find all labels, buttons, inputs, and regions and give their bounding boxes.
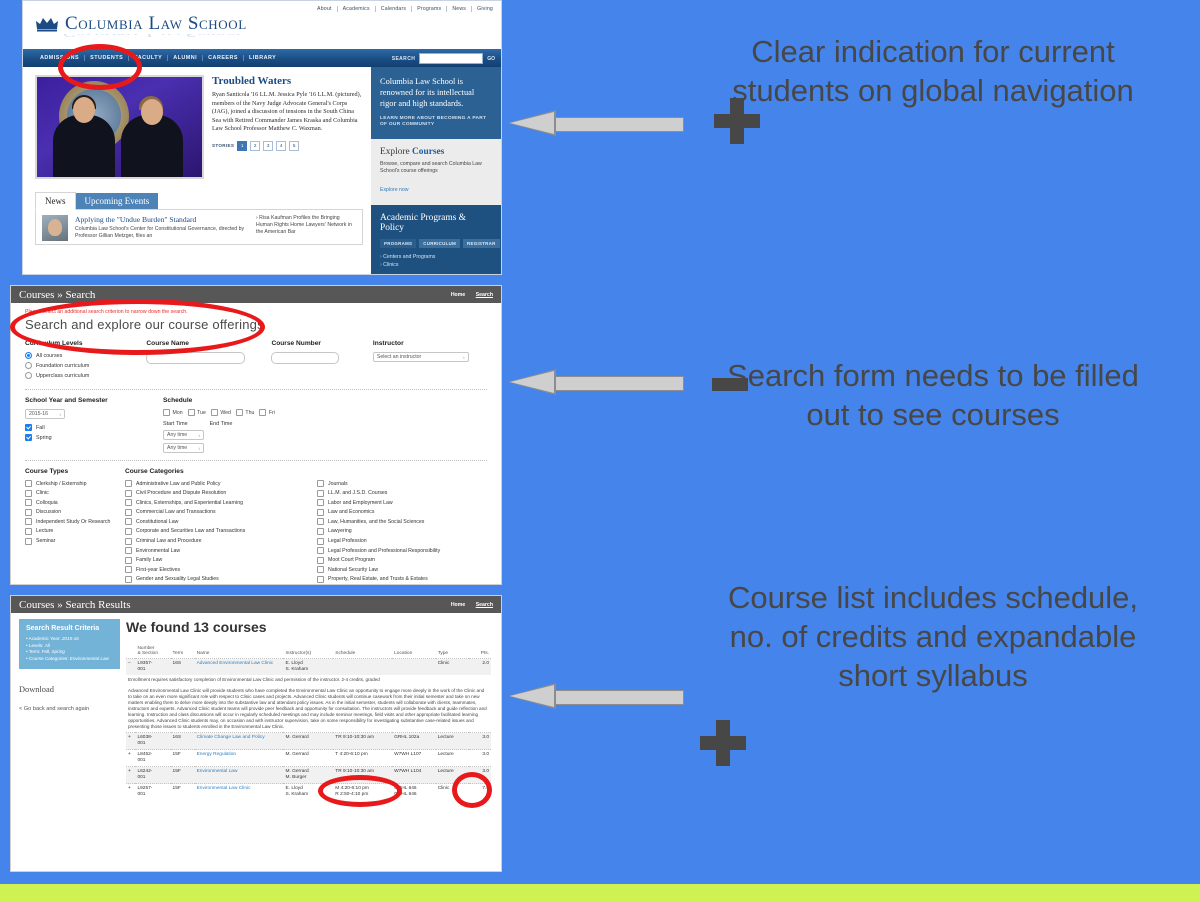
course-categories-columns: Administrative Law and Public Policy Civ… — [125, 480, 487, 585]
criteria-item: Term: Fall, Spring — [26, 649, 113, 656]
course-types-group: Course Types Clerkship / Externship Clin… — [25, 468, 125, 585]
option-label: Legal Profession and Professional Respon… — [328, 548, 440, 554]
option-label: Labor and Employment Law — [328, 500, 393, 506]
cell-number: L9257-001 — [135, 784, 170, 801]
header-links[interactable]: Home Search — [442, 602, 493, 608]
checkbox-course-category[interactable]: Environmental Law — [125, 547, 303, 554]
cell-name[interactable]: Environmental Law Clinic — [195, 784, 284, 801]
cell-points: 3.0 — [469, 733, 491, 750]
option-label: Civil Procedure and Dispute Resolution — [136, 490, 226, 496]
cell-location: W7WH L104 — [392, 767, 436, 784]
option-label: Corporate and Securities Law and Transac… — [136, 528, 245, 534]
cell-type: Lecture — [436, 733, 469, 750]
checkbox-icon — [125, 490, 132, 497]
checkbox-course-category[interactable]: Journals — [317, 480, 487, 487]
cell-term: 15F — [171, 784, 195, 801]
academic-programs-title: Academic Programs & Policy — [380, 213, 492, 233]
checkbox-fri[interactable]: Fri — [259, 409, 275, 416]
school-year-label: School Year and Semester — [25, 397, 149, 404]
checkbox-course-category[interactable]: Labor and Employment Law — [317, 499, 487, 506]
col-toggle — [126, 646, 135, 659]
highlight-ellipse-points-cell — [452, 772, 492, 808]
link-search[interactable]: Search — [476, 602, 493, 608]
utility-nav-item[interactable]: Academics — [338, 6, 376, 12]
checkbox-icon — [125, 499, 132, 506]
arrow-head — [510, 685, 554, 707]
checkbox-course-category[interactable]: Lawyering — [317, 528, 487, 535]
option-label: Seminar — [36, 538, 55, 544]
academic-programs-tabs[interactable]: PROGRAMS CURRICULUM REGISTRAR — [380, 239, 492, 248]
news-summary: Columbia Law School's Center for Constit… — [75, 226, 249, 240]
instructor-group: Instructor Select an instructor↕ — [373, 340, 487, 382]
go-back-link[interactable]: < Go back and search again — [19, 706, 120, 712]
checkbox-icon — [25, 480, 32, 487]
row-toggle[interactable]: + — [126, 733, 135, 750]
row-toggle[interactable]: – — [126, 659, 135, 676]
checkbox-course-category[interactable]: Civil Procedure and Dispute Resolution — [125, 490, 303, 497]
radio-foundation-curriculum[interactable]: Foundation curriculum — [25, 362, 132, 369]
tab-news[interactable]: News — [35, 192, 76, 210]
explore-courses-panel: Explore Courses Browse, compare and sear… — [371, 139, 501, 205]
cell-location: GRHL 102a — [392, 733, 436, 750]
search-input[interactable] — [419, 53, 483, 64]
checkbox-course-category[interactable]: Moot Court Program — [317, 557, 487, 564]
syllabus-note: Enrollment requires satisfactory complet… — [128, 677, 489, 683]
option-label: Clinic — [36, 490, 49, 496]
academic-programs-panel: Academic Programs & Policy PROGRAMS CURR… — [371, 205, 501, 275]
instructor-label: Instructor — [373, 340, 473, 347]
start-time-label: Start Time — [163, 421, 188, 427]
checkbox-course-category[interactable]: Corporate and Securities Law and Transac… — [125, 528, 303, 535]
cell-schedule: TR 9:10-10:30 am — [333, 733, 392, 750]
cell-instructors: E. LloydS. Kraham — [283, 659, 333, 676]
hero-feature: Troubled Waters Ryan Santicola '16 LL.M.… — [35, 75, 363, 179]
news-thumbnail — [42, 215, 68, 241]
option-label: Lecture — [36, 528, 53, 534]
results-main: We found 13 courses Number& Section Term… — [126, 613, 501, 800]
start-time-value: Any time — [167, 432, 187, 438]
course-number-input[interactable] — [271, 352, 339, 364]
promo-panel: Columbia Law School is renowned for its … — [371, 67, 501, 139]
checkbox-course-type[interactable]: Discussion — [25, 509, 111, 516]
option-label: Clerkship / Externship — [36, 481, 86, 487]
cell-points: 2.0 — [469, 659, 491, 676]
cell-points: 3.0 — [469, 750, 491, 767]
header-links[interactable]: Home Search — [442, 292, 493, 298]
checkbox-icon — [317, 490, 324, 497]
end-time-label: End Time — [210, 421, 233, 427]
crown-icon — [35, 16, 59, 32]
promo-statement: Columbia Law School is renowned for its … — [380, 76, 492, 109]
checkbox-icon — [317, 518, 324, 525]
checkbox-fall[interactable]: Fall — [25, 424, 149, 431]
table-header-row: Number& Section Term Name Instructor(s) … — [126, 646, 491, 659]
annotation-text-search: Search form needs to be filled out to se… — [718, 356, 1148, 434]
checkbox-course-category[interactable]: Clinics, Externships, and Experiential L… — [125, 499, 303, 506]
end-time-select[interactable]: Any time↕ — [163, 443, 204, 453]
nav-item-alumni[interactable]: ALUMNI — [168, 55, 203, 61]
option-label: All courses — [36, 353, 62, 359]
criteria-title: Search Result Criteria — [26, 625, 113, 632]
day-label: Tue — [197, 410, 206, 416]
hero-summary: Ryan Santicola '16 LL.M. Jessica Pyle '1… — [212, 91, 363, 134]
chevron-updown-icon: ↕ — [198, 446, 200, 451]
explore-courses-title: Explore Courses — [380, 147, 492, 157]
checkbox-course-category[interactable]: Law, Humanities, and the Social Sciences — [317, 518, 487, 525]
site-header: AboutAcademicsCalendarsProgramsNewsGivin… — [23, 1, 501, 49]
checkbox-course-category[interactable]: Constitutional Law — [125, 518, 303, 525]
page-title: Courses » Search Results — [19, 599, 131, 611]
instructor-select-value: Select an instructor — [377, 354, 421, 360]
cell-term: 16S — [171, 659, 195, 676]
checkbox-course-category[interactable]: Law and Economics — [317, 509, 487, 516]
arrow-head — [510, 371, 554, 393]
course-categories-group: Course Categories Administrative Law and… — [125, 468, 487, 585]
table-row[interactable]: + L6038-001 16S Climate Change Law and P… — [126, 733, 491, 750]
option-label: Colloquia — [36, 500, 58, 506]
arrow-shaft — [553, 376, 684, 391]
search-result-criteria-panel: Search Result Criteria Academic Year: 20… — [19, 619, 120, 669]
hero-page-1[interactable]: 1 — [237, 141, 247, 151]
results-table: Number& Section Term Name Instructor(s) … — [126, 646, 491, 800]
checkbox-icon — [259, 409, 266, 416]
logo-reflection: Columbia Law School — [63, 34, 245, 39]
checkbox-spring[interactable]: Spring — [25, 434, 149, 441]
day-label: Fri — [269, 410, 275, 416]
cell-term: 15F — [171, 767, 195, 784]
site-search[interactable]: SEARCH GO — [392, 53, 495, 64]
day-label: Mon — [173, 410, 183, 416]
course-number-label: Course Number — [271, 340, 358, 347]
hero-page-3[interactable]: 3 — [263, 141, 273, 151]
row-expanded-syllabus: Enrollment requires satisfactory complet… — [126, 675, 491, 733]
criteria-item: Academic Year: 2015-16 — [26, 636, 113, 643]
checkbox-mon[interactable]: Mon — [163, 409, 183, 416]
news-panel: Applying the "Undue Burden" Standard Col… — [35, 209, 363, 245]
checkbox-course-category[interactable]: Administrative Law and Public Policy — [125, 480, 303, 487]
option-label: Environmental Law — [136, 548, 180, 554]
news-tabs[interactable]: News Upcoming Events — [35, 191, 363, 209]
checkbox-course-category[interactable]: Legal Profession — [317, 538, 487, 545]
screenshot-search-results: Courses » Search Results Home Search Sea… — [10, 595, 502, 872]
checkbox-icon — [125, 576, 132, 583]
option-label: Clinics, Externships, and Experiential L… — [136, 500, 243, 506]
hero-image — [35, 75, 204, 179]
checkbox-icon — [25, 518, 32, 525]
option-label: Journals — [328, 481, 348, 487]
cell-name[interactable]: Climate Change Law and Policy — [195, 733, 284, 750]
checkbox-icon — [188, 409, 195, 416]
callout-arrow-results — [508, 683, 684, 709]
option-label: Property, Real Estate, and Trusts & Esta… — [328, 576, 428, 582]
option-label: LL.M. and J.S.D. Courses — [328, 490, 387, 496]
checkbox-tue[interactable]: Tue — [188, 409, 206, 416]
day-label: Thu — [245, 410, 254, 416]
checkbox-icon — [317, 547, 324, 554]
checkbox-icon — [125, 547, 132, 554]
cell-instructors: M. Gerrard — [283, 733, 333, 750]
radio-icon — [25, 362, 32, 369]
search-go-button[interactable]: GO — [487, 56, 495, 62]
download-heading[interactable]: Download — [19, 685, 120, 694]
promo-cta-link[interactable]: LEARN MORE ABOUT BECOMING A PART OF OUR … — [380, 116, 492, 129]
radio-icon — [25, 352, 32, 359]
checkbox-course-type[interactable]: Seminar — [25, 538, 111, 545]
checkbox-course-category[interactable]: Legal Profession and Professional Respon… — [317, 547, 487, 554]
school-year-group: School Year and Semester 2015-16↕ Fall S… — [25, 397, 163, 453]
link-home[interactable]: Home — [451, 602, 465, 608]
bottom-accent-strip — [0, 884, 1200, 901]
list-item[interactable]: Centers and Programs — [380, 253, 492, 261]
option-label: Upperclass curriculum — [36, 373, 89, 379]
checkbox-icon — [236, 409, 243, 416]
hero-headline[interactable]: Troubled Waters — [212, 75, 363, 87]
callout-arrow-search — [508, 369, 684, 395]
school-year-select[interactable]: 2015-16↕ — [25, 409, 65, 419]
tab-registrar[interactable]: REGISTRAR — [463, 239, 500, 248]
checkbox-course-type[interactable]: Clinic — [25, 490, 111, 497]
search-label: SEARCH — [392, 56, 416, 62]
cell-term: 15F — [171, 750, 195, 767]
course-types-label: Course Types — [25, 468, 111, 475]
nav-item-careers[interactable]: CAREERS — [203, 55, 244, 61]
option-label: Gender and Sexuality Legal Studies — [136, 576, 219, 582]
highlight-ellipse-search-heading — [10, 299, 265, 355]
criteria-item: Course Categories: Environmental Law — [26, 656, 113, 663]
course-number-group: Course Number — [271, 340, 372, 382]
home-body: Troubled Waters Ryan Santicola '16 LL.M.… — [23, 67, 501, 274]
table-row[interactable]: + L6242-001 15F Environmental Law M. Ger… — [126, 767, 491, 784]
instructor-select[interactable]: Select an instructor↕ — [373, 352, 469, 362]
option-label: Independent Study Or Research — [36, 519, 110, 525]
row-year-schedule: School Year and Semester 2015-16↕ Fall S… — [25, 397, 487, 461]
cell-number: L6038-001 — [135, 733, 170, 750]
news-headline[interactable]: Applying the "Undue Burden" Standard — [75, 215, 249, 224]
checkbox-icon — [317, 499, 324, 506]
home-sidebar: Columbia Law School is renowned for its … — [371, 67, 501, 274]
option-label: Family Law — [136, 557, 162, 563]
option-label: Commercial Law and Transactions — [136, 509, 216, 515]
checkbox-thu[interactable]: Thu — [236, 409, 254, 416]
annotation-text-results: Course list includes schedule, no. of cr… — [718, 578, 1148, 695]
cell-schedule: T 4:20-6:10 pm — [333, 750, 392, 767]
site-logo[interactable]: Columbia Law School — [35, 13, 247, 35]
checkbox-icon — [25, 528, 32, 535]
checkbox-icon — [317, 576, 324, 583]
checkbox-icon — [25, 434, 32, 441]
checkbox-icon — [25, 424, 32, 431]
checkbox-icon — [125, 557, 132, 564]
cell-number: L9357-001 — [135, 659, 170, 676]
criteria-item: Levels: All — [26, 643, 113, 650]
arrow-shaft — [553, 690, 684, 705]
results-page-header: Courses » Search Results Home Search — [11, 596, 501, 613]
option-label: Discussion — [36, 509, 61, 515]
annotation-text-home: Clear indication for current students on… — [718, 32, 1148, 110]
option-label: Law, Humanities, and the Social Sciences — [328, 519, 424, 525]
course-categories-label: Course Categories — [125, 468, 487, 475]
tab-curriculum[interactable]: CURRICULUM — [419, 239, 460, 248]
arrow-shaft — [553, 117, 684, 132]
checkbox-icon — [25, 499, 32, 506]
col-number-section: Number& Section — [135, 646, 170, 659]
table-row[interactable]: + L9257-001 15F Environmental Law Clinic… — [126, 784, 491, 801]
utility-nav[interactable]: AboutAcademicsCalendarsProgramsNewsGivin… — [312, 6, 495, 12]
checkbox-course-category[interactable]: LL.M. and J.S.D. Courses — [317, 490, 487, 497]
option-label: Foundation curriculum — [36, 363, 89, 369]
course-categories-column-one: Administrative Law and Public Policy Civ… — [125, 480, 317, 585]
checkbox-course-type[interactable]: Lecture — [25, 528, 111, 535]
checkbox-icon — [125, 480, 132, 487]
tab-upcoming-events[interactable]: Upcoming Events — [76, 193, 159, 209]
checkbox-icon — [317, 538, 324, 545]
option-label: Legal Profession — [328, 538, 367, 544]
cell-schedule — [333, 659, 392, 676]
checkbox-course-type[interactable]: Clerkship / Externship — [25, 480, 111, 487]
radio-icon — [25, 372, 32, 379]
hero-page-5[interactable]: 5 — [289, 141, 299, 151]
checkbox-icon — [317, 528, 324, 535]
option-label: First-year Electives — [136, 567, 180, 573]
list-item[interactable]: Clinics — [380, 261, 492, 269]
checkbox-icon — [163, 409, 170, 416]
table-row[interactable]: + L8452-001 15F Energy Regulation M. Ger… — [126, 750, 491, 767]
syllabus-description: Advanced Environmental Law Clinic will p… — [128, 688, 489, 730]
checkbox-wed[interactable]: Wed — [211, 409, 231, 416]
hero-pager-label: STORIES — [212, 143, 234, 148]
explore-now-link[interactable]: Explore now — [380, 187, 409, 193]
cell-name[interactable]: Advanced Environmental Law Clinic — [195, 659, 284, 676]
cell-name[interactable]: Energy Regulation — [195, 750, 284, 767]
checkbox-course-category[interactable]: Family Law — [125, 557, 303, 564]
chevron-updown-icon: ↕ — [59, 412, 61, 417]
option-label: Criminal Law and Procedure — [136, 538, 201, 544]
col-schedule: Schedule — [333, 646, 392, 659]
results-heading: We found 13 courses — [126, 619, 491, 635]
highlight-ellipse-schedule-cell — [318, 775, 402, 807]
link-search[interactable]: Search — [476, 292, 493, 298]
checkbox-course-category[interactable]: National Security Law — [317, 566, 487, 573]
school-year-value: 2015-16 — [29, 411, 48, 417]
end-time-value: Any time — [167, 445, 187, 451]
option-label: Constitutional Law — [136, 519, 178, 525]
criteria-list: Academic Year: 2015-16 Levels: All Term:… — [26, 636, 113, 662]
link-home[interactable]: Home — [451, 292, 465, 298]
utility-nav-item[interactable]: Calendars — [376, 6, 412, 12]
cell-term: 16S — [171, 733, 195, 750]
col-type: Type — [436, 646, 469, 659]
explore-courses-body: Browse, compare and search Columbia Law … — [380, 161, 492, 175]
option-label: Spring — [36, 435, 52, 441]
results-sidebar: Search Result Criteria Academic Year: 20… — [11, 613, 126, 800]
news-secondary-item: › Risa Kaufman Profiles the Bringing Hum… — [256, 215, 356, 239]
page-title: Courses » Search — [19, 289, 95, 301]
checkbox-course-category[interactable]: First-year Electives — [125, 566, 303, 573]
chevron-updown-icon: ↕ — [198, 433, 200, 438]
col-term: Term — [171, 646, 195, 659]
checkbox-course-category[interactable]: Criminal Law and Procedure — [125, 538, 303, 545]
syllabus-content: Enrollment requires satisfactory complet… — [126, 675, 491, 733]
checkbox-course-category[interactable]: Property, Real Estate, and Trusts & Esta… — [317, 576, 487, 583]
col-points: Pts. — [469, 646, 491, 659]
checkbox-course-category[interactable]: Commercial Law and Transactions — [125, 509, 303, 516]
row-toggle[interactable]: + — [126, 784, 135, 801]
checkbox-icon — [125, 538, 132, 545]
checkbox-icon — [317, 509, 324, 516]
tab-programs[interactable]: PROGRAMS — [380, 239, 416, 248]
hero-page-4[interactable]: 4 — [276, 141, 286, 151]
course-categories-column-two: Journals LL.M. and J.S.D. Courses Labor … — [317, 480, 487, 585]
cell-instructors: M. Gerrard — [283, 750, 333, 767]
news-secondary-text: Risa Kaufman Profiles the Bringing Human… — [256, 215, 352, 235]
checkbox-icon — [125, 566, 132, 573]
hero-pager[interactable]: STORIES 1 2 3 4 5 — [212, 141, 363, 151]
cell-type: Clinic — [436, 659, 469, 676]
schedule-group: Schedule Mon Tue Wed Thu Fri Start Time … — [163, 397, 289, 453]
news-primary-item: Applying the "Undue Burden" Standard Col… — [75, 215, 249, 239]
site-title: Columbia Law School — [65, 13, 247, 35]
checkbox-icon — [125, 509, 132, 516]
schedule-label: Schedule — [163, 397, 275, 404]
checkbox-icon — [25, 490, 32, 497]
checkbox-icon — [211, 409, 218, 416]
col-location: Location — [392, 646, 436, 659]
checkbox-course-category[interactable]: Gender and Sexuality Legal Studies — [125, 576, 303, 583]
option-label: Lawyering — [328, 528, 352, 534]
results-body: Search Result Criteria Academic Year: 20… — [11, 613, 501, 800]
checkbox-course-type[interactable]: Colloquia — [25, 499, 111, 506]
hero-page-2[interactable]: 2 — [250, 141, 260, 151]
person-figure — [121, 115, 183, 177]
callout-arrow-home — [508, 110, 684, 136]
schedule-days[interactable]: Mon Tue Wed Thu Fri — [163, 409, 275, 416]
option-label: Law and Economics — [328, 509, 374, 515]
option-label: Fall — [36, 425, 45, 431]
arrow-head — [510, 112, 554, 134]
cell-name[interactable]: Environmental Law — [195, 767, 284, 784]
col-instructors: Instructor(s) — [283, 646, 333, 659]
screenshot-home-page: AboutAcademicsCalendarsProgramsNewsGivin… — [22, 0, 502, 275]
checkbox-course-type[interactable]: Independent Study Or Research — [25, 518, 111, 525]
chevron-updown-icon: ↕ — [463, 355, 465, 360]
option-label: National Security Law — [328, 567, 378, 573]
col-name: Name — [195, 646, 284, 659]
utility-nav-item[interactable]: Programs — [412, 6, 447, 12]
time-labels: Start Time End Time — [163, 421, 275, 427]
radio-upperclass-curriculum[interactable]: Upperclass curriculum — [25, 372, 132, 379]
row-toggle[interactable]: + — [126, 750, 135, 767]
home-main-column: Troubled Waters Ryan Santicola '16 LL.M.… — [23, 67, 371, 274]
cell-location: W7WH L107 — [392, 750, 436, 767]
academic-programs-list: Centers and Programs Clinics — [380, 253, 492, 269]
highlight-ellipse-students-nav — [58, 44, 142, 90]
cell-number: L8452-001 — [135, 750, 170, 767]
checkbox-icon — [317, 557, 324, 564]
option-label: Moot Court Program — [328, 557, 375, 563]
row-toggle[interactable]: + — [126, 767, 135, 784]
cell-location — [392, 659, 436, 676]
checkbox-icon — [125, 518, 132, 525]
start-time-select[interactable]: Any time↕ — [163, 430, 204, 440]
cell-number: L6242-001 — [135, 767, 170, 784]
row-types-categories: Course Types Clerkship / Externship Clin… — [25, 468, 487, 585]
nav-item-library[interactable]: LIBRARY — [244, 55, 281, 61]
table-row[interactable]: – L9357-001 16S Advanced Environmental L… — [126, 659, 491, 676]
utility-nav-item[interactable]: About — [312, 6, 338, 12]
checkbox-icon — [317, 566, 324, 573]
utility-nav-item[interactable]: Giving — [472, 6, 495, 12]
utility-nav-item[interactable]: News — [447, 6, 472, 12]
